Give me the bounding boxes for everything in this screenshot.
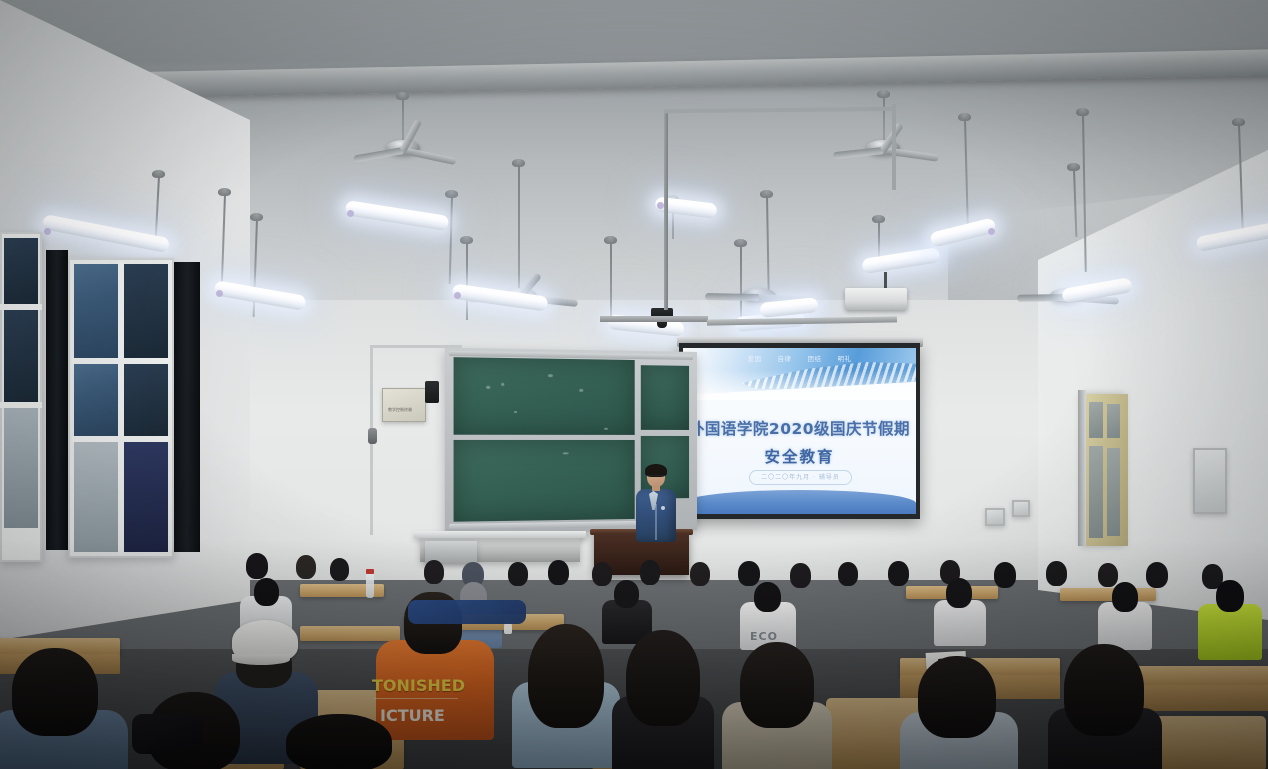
slide-title-line-1: 外国语学院2020级国庆节假期	[683, 417, 916, 439]
student	[900, 656, 1020, 769]
projector-mount	[884, 272, 887, 288]
light-rod	[466, 242, 468, 320]
window	[68, 258, 174, 558]
wall-socket-plate	[985, 508, 1005, 526]
chalk-mark	[548, 374, 553, 377]
student	[722, 642, 834, 769]
ceiling-conduit-right	[892, 104, 896, 190]
window-mullion	[72, 436, 170, 442]
window-pane	[74, 364, 118, 436]
student-hair	[626, 630, 700, 726]
presenter-badge	[661, 506, 665, 510]
slide-footer-word: 明礼	[838, 353, 852, 363]
window-pane	[4, 238, 38, 304]
ceiling-rail	[600, 316, 708, 322]
student-foreground	[286, 714, 396, 769]
fan-rod	[883, 96, 885, 146]
seat-back	[1146, 716, 1266, 769]
window-pane	[124, 264, 168, 358]
wall-fixture	[368, 428, 377, 444]
light-end-cap	[657, 202, 664, 209]
fan-rod	[518, 165, 520, 293]
slide-title-line-2: 安全教育	[683, 445, 916, 467]
student-hair	[286, 714, 392, 769]
light-rod	[740, 245, 742, 317]
door-frame-shadow	[1078, 390, 1086, 546]
wall-control-box-label: 教学控制终端	[388, 407, 412, 413]
student-hair	[12, 648, 98, 736]
bottle-cap	[366, 569, 374, 574]
front-desk-top	[414, 531, 586, 538]
student-hair	[1064, 644, 1144, 736]
window-pane	[124, 364, 168, 436]
wall-control-box[interactable]: 教学控制终端	[382, 388, 426, 422]
light-end-cap	[454, 292, 461, 299]
slide-footer-word: 团结	[808, 353, 822, 363]
student	[512, 620, 622, 766]
light-end-cap	[216, 290, 223, 297]
wall-conduit-h	[370, 345, 462, 348]
door-glass-pane	[1107, 404, 1120, 438]
light-end-cap	[44, 228, 51, 235]
slide-footer-word: 爱国	[748, 353, 762, 363]
blackboard-panel-upper	[454, 357, 635, 435]
light-rod	[610, 242, 612, 320]
window-pane	[74, 442, 118, 552]
window-mullion	[0, 304, 42, 310]
wall-socket-plate	[1012, 500, 1030, 517]
student	[612, 630, 716, 769]
cap-brim	[232, 654, 290, 665]
blackboard-panel-side-upper	[641, 365, 689, 430]
chalk-mark	[562, 452, 568, 454]
bag-on-desk	[408, 600, 526, 624]
door-glass-pane	[1089, 446, 1103, 538]
slide-footer-words: 爱国 自律 团结 明礼	[683, 353, 916, 363]
door-glass-pane	[1089, 402, 1103, 438]
slide-footer-bar	[683, 490, 916, 514]
chalk-mark	[604, 428, 608, 430]
student-hair	[918, 656, 996, 738]
presenter-zipper	[655, 504, 657, 540]
window-mullion	[72, 358, 170, 364]
door-glass-pane	[1107, 448, 1120, 536]
slide-banner-fade	[683, 370, 916, 400]
window-pane	[4, 408, 38, 528]
light-rod	[878, 221, 880, 259]
window-curtain	[174, 262, 200, 552]
electrical-panel[interactable]	[1193, 448, 1227, 514]
jacket-graphic-text-1: TONISHED	[372, 676, 465, 695]
window-curtain	[46, 250, 68, 550]
light-end-cap	[347, 210, 354, 217]
chalk-mark	[579, 389, 583, 392]
glasses-icon	[647, 475, 665, 479]
student	[1048, 644, 1164, 769]
slide-subtitle-pill: 二〇二〇年九月 · 辅导员	[749, 470, 852, 485]
window-pane	[4, 310, 38, 402]
student-hair	[740, 642, 814, 728]
presentation-slide: 外国语学院2020级国庆节假期 安全教育 二〇二〇年九月 · 辅导员 爱国 自律…	[683, 348, 916, 514]
wall-speaker	[425, 381, 439, 403]
window-mullion	[118, 262, 124, 554]
chalk-mark	[486, 386, 490, 389]
chalk-mark	[514, 411, 517, 413]
student	[0, 648, 130, 769]
projection-screen: 外国语学院2020级国庆节假期 安全教育 二〇二〇年九月 · 辅导员 爱国 自律…	[679, 343, 920, 519]
window-pane	[74, 264, 118, 358]
window	[0, 232, 42, 562]
projector	[845, 288, 907, 310]
student-hair	[528, 624, 604, 728]
slide-footer-word: 自律	[778, 353, 792, 363]
window-mullion	[0, 402, 42, 408]
ceiling-rail-vertical	[664, 110, 668, 310]
light-end-cap	[988, 228, 995, 235]
blackboard-panel-lower	[454, 440, 635, 522]
presenter	[632, 466, 680, 542]
fan-rod	[402, 98, 404, 146]
fan-blade	[705, 293, 759, 301]
classroom-door[interactable]	[1084, 394, 1128, 546]
bag-on-desk	[132, 714, 202, 754]
window-pane	[124, 442, 168, 552]
jacket-graphic-rule	[374, 698, 458, 699]
classroom-photo-scene: 外国语学院2020级国庆节假期 安全教育 二〇二〇年九月 · 辅导员 爱国 自律…	[0, 0, 1268, 769]
chalk-mark	[501, 383, 504, 386]
fan-blade	[1017, 294, 1067, 302]
